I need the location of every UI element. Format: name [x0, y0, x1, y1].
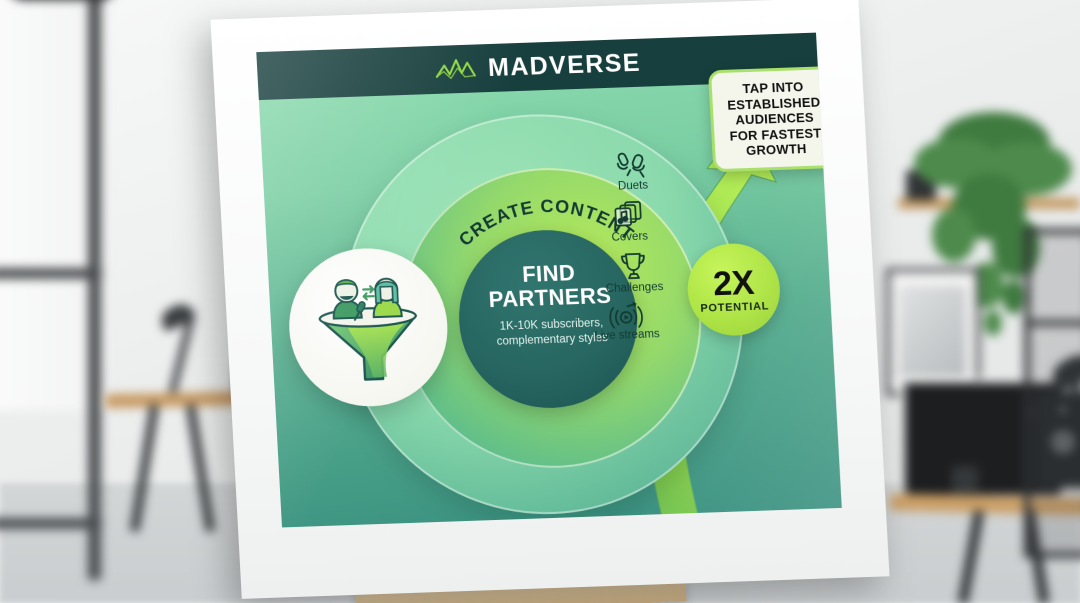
- poster-canvas: MADVERSE: [256, 33, 842, 528]
- content-type-label: Challenges: [605, 281, 663, 295]
- madverse-waveform-logo-icon: [433, 56, 476, 83]
- window-mullion-horizontal-bottom: [0, 518, 102, 529]
- content-type-live-streams[interactable]: Live streams: [546, 300, 706, 344]
- content-type-challenges[interactable]: Challenges: [564, 249, 704, 297]
- window-mullion-vertical: [88, 0, 101, 580]
- screenshot-scene: MADVERSE: [0, 0, 1080, 603]
- brand-name: MADVERSE: [487, 48, 641, 82]
- art-inner: [900, 286, 966, 378]
- live-broadcast-icon: [605, 302, 646, 329]
- badge-caption: POTENTIAL: [700, 300, 769, 314]
- framed-art-icon: [886, 268, 980, 396]
- window-mullion-horizontal-top: [0, 268, 102, 279]
- content-type-label: Covers: [611, 231, 648, 244]
- infographic-poster: MADVERSE: [210, 0, 889, 599]
- content-type-duets[interactable]: Duets: [566, 149, 698, 194]
- content-type-covers[interactable]: Covers: [557, 198, 701, 246]
- trophy-icon: [618, 251, 650, 282]
- badge-value: 2X: [712, 265, 754, 300]
- pen-cup-icon: [952, 466, 978, 498]
- content-types-list: Duets C: [580, 149, 707, 351]
- content-type-label: Duets: [618, 180, 649, 193]
- two-creators-funnel-icon: [307, 267, 429, 387]
- dual-microphone-icon: [614, 151, 649, 180]
- content-type-label: Live streams: [594, 328, 660, 342]
- music-note-cards-icon: [612, 200, 646, 231]
- speaker-icon: [1036, 392, 1080, 488]
